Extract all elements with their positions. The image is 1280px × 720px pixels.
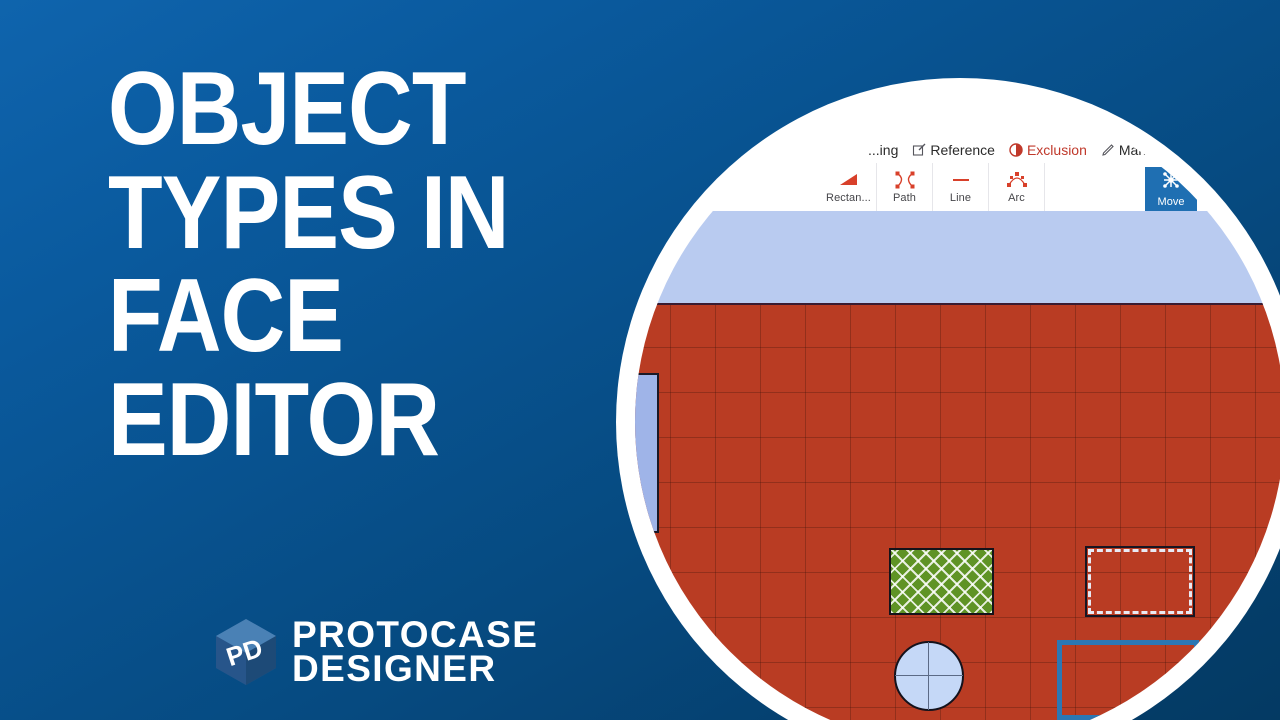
- ribbon-tab-label: ...ing: [868, 142, 898, 158]
- ribbon-tab-strip: ...ing Reference: [635, 137, 1280, 163]
- title-line-4: EDITOR: [108, 373, 512, 469]
- rectangle-icon: [838, 170, 860, 190]
- line-tool-button[interactable]: Line: [933, 163, 989, 211]
- cube-logo-icon: PD: [212, 617, 280, 687]
- exclusion-rectangle[interactable]: [1085, 546, 1195, 617]
- ribbon-tab-reference[interactable]: Reference: [905, 142, 1002, 158]
- ribbon-tab-marking[interactable]: Marking: [1094, 142, 1176, 158]
- ribbon-tab-label: Reference: [930, 142, 995, 158]
- move-icon: [1160, 170, 1182, 195]
- marking-pencil-icon: [1101, 143, 1115, 157]
- logo-wordmark: PROTOCASE DESIGNER: [292, 618, 538, 687]
- ribbon-tab-label: Marking: [1119, 142, 1169, 158]
- ribbon-tab-label: Exclusion: [1027, 142, 1087, 158]
- path-tool-button[interactable]: Path: [877, 163, 933, 211]
- path-icon: [894, 170, 916, 190]
- face-editor-app-screenshot: ...ing Reference: [635, 97, 1280, 720]
- title-line-3: FACE: [108, 269, 512, 365]
- reference-icon: [912, 143, 926, 157]
- arc-icon: [1006, 170, 1028, 190]
- title-line-1: OBJECT: [108, 62, 512, 158]
- line-tool-label: Line: [950, 192, 971, 204]
- arc-tool-label: Arc: [1008, 192, 1025, 204]
- face-editor-canvas[interactable]: [635, 303, 1280, 720]
- cutout-rectangle[interactable]: [889, 548, 994, 615]
- ribbon-command-row: Rectan... Path: [635, 163, 1280, 212]
- marking-rectangle[interactable]: [1057, 640, 1199, 720]
- logo-word-protocase: PROTOCASE: [292, 618, 538, 652]
- page-title: OBJECT TYPES IN FACE EDITOR: [108, 62, 578, 477]
- rectangle-tool-button[interactable]: Rectan...: [821, 163, 877, 211]
- hole-crosshair-horizontal: [895, 675, 963, 676]
- hole-circle[interactable]: [894, 641, 964, 711]
- line-icon: [950, 170, 972, 190]
- move-tool-label: Move: [1158, 196, 1185, 208]
- exclusion-icon: [1009, 143, 1023, 157]
- move-tool-button[interactable]: Move: [1145, 167, 1197, 211]
- circular-screenshot-frame: ...ing Reference: [616, 78, 1280, 720]
- rectangle-tool-label: Rectan...: [826, 192, 871, 204]
- arc-tool-button[interactable]: Arc: [989, 163, 1045, 211]
- circular-screenshot-clip: ...ing Reference: [635, 97, 1280, 720]
- editor-upper-band: [635, 211, 1280, 303]
- title-line-2: TYPES IN: [108, 166, 512, 262]
- logo-word-designer: DESIGNER: [292, 652, 538, 686]
- partial-shape-left[interactable]: [635, 373, 659, 533]
- ribbon-tab-truncated[interactable]: ...ing: [861, 142, 905, 158]
- hole-crosshair-vertical: [928, 642, 929, 710]
- slide-canvas: OBJECT TYPES IN FACE EDITOR PD PROTOCASE…: [0, 0, 1280, 720]
- path-tool-label: Path: [893, 192, 916, 204]
- protocase-designer-logo: PD PROTOCASE DESIGNER: [212, 617, 538, 687]
- ribbon-tab-exclusion[interactable]: Exclusion: [1002, 142, 1094, 158]
